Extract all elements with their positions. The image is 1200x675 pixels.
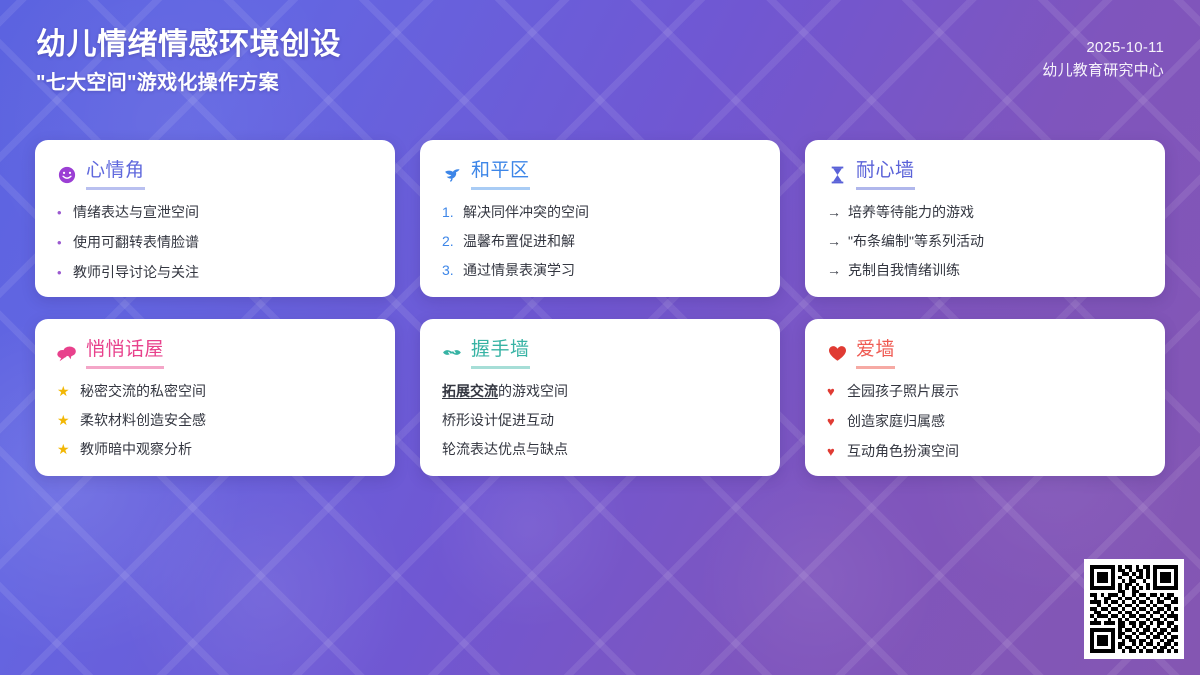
bullet-marker: ★ bbox=[57, 410, 73, 430]
card-mood-corner[interactable]: 心情角 • 情绪表达与宣泄空间 • 使用可翻转表情脸谱 • 教师引导讨论与关注 bbox=[35, 140, 395, 297]
card-header: 悄悄话屋 bbox=[57, 339, 373, 369]
list-item: ★ 教师暗中观察分析 bbox=[57, 439, 373, 459]
list-item-text: 互动角色扮演空间 bbox=[847, 441, 959, 461]
bullet-marker: 3. bbox=[442, 260, 456, 280]
card-body: 拓展交流的游戏空间 桥形设计促进互动 轮流表达优点与缺点 bbox=[442, 381, 758, 460]
list-item-text: 教师引导讨论与关注 bbox=[73, 262, 199, 282]
list-item-text: 情绪表达与宣泄空间 bbox=[73, 202, 199, 222]
qr-code[interactable] bbox=[1084, 559, 1184, 659]
list-item: 轮流表达优点与缺点 bbox=[442, 439, 758, 459]
card-title: 心情角 bbox=[86, 160, 145, 190]
list-item-text: 使用可翻转表情脸谱 bbox=[73, 232, 199, 252]
card-title: 耐心墙 bbox=[856, 160, 915, 190]
card-title: 悄悄话屋 bbox=[86, 339, 164, 369]
list-item: • 使用可翻转表情脸谱 bbox=[57, 232, 373, 253]
card-header: 心情角 bbox=[57, 160, 373, 190]
card-handshake-wall[interactable]: 握手墙 拓展交流的游戏空间 桥形设计促进互动 轮流表达优点与缺点 bbox=[420, 319, 780, 476]
speech-bubbles-icon bbox=[57, 344, 77, 364]
list-item: • 情绪表达与宣泄空间 bbox=[57, 202, 373, 223]
card-body: • 情绪表达与宣泄空间 • 使用可翻转表情脸谱 • 教师引导讨论与关注 bbox=[57, 202, 373, 283]
list-item-text: "布条编制"等系列活动 bbox=[848, 231, 984, 251]
card-peace-zone[interactable]: 和平区 1. 解决同伴冲突的空间 2. 温馨布置促进和解 3. 通过情景表演学习 bbox=[420, 140, 780, 297]
emphasis-text: 拓展交流 bbox=[442, 383, 498, 399]
bullet-marker: ★ bbox=[57, 439, 73, 459]
card-header: 握手墙 bbox=[442, 339, 758, 369]
bullet-marker: ★ bbox=[57, 381, 73, 401]
list-item: → "布条编制"等系列活动 bbox=[827, 231, 1143, 251]
bullet-marker: • bbox=[57, 264, 66, 283]
slide-canvas: 幼儿情绪情感环境创设 "七大空间"游戏化操作方案 2025-10-11 幼儿教育… bbox=[0, 0, 1200, 675]
bullet-marker: ♥ bbox=[827, 413, 840, 432]
bullet-marker: → bbox=[827, 260, 841, 280]
card-body: ★ 秘密交流的私密空间 ★ 柔软材料创造安全感 ★ 教师暗中观察分析 bbox=[57, 381, 373, 460]
list-item: → 克制自我情绪训练 bbox=[827, 260, 1143, 280]
list-item-text: 培养等待能力的游戏 bbox=[848, 202, 974, 222]
list-item-text: 秘密交流的私密空间 bbox=[80, 381, 206, 401]
card-title: 和平区 bbox=[471, 160, 530, 190]
smiley-face-icon bbox=[57, 165, 77, 185]
bullet-marker: • bbox=[57, 204, 66, 223]
list-item: ♥ 创造家庭归属感 bbox=[827, 411, 1143, 432]
qr-code-matrix bbox=[1090, 565, 1178, 653]
card-body: ♥ 全园孩子照片展示 ♥ 创造家庭归属感 ♥ 互动角色扮演空间 bbox=[827, 381, 1143, 462]
list-item: • 教师引导讨论与关注 bbox=[57, 262, 373, 283]
card-header: 耐心墙 bbox=[827, 160, 1143, 190]
bullet-marker: ♥ bbox=[827, 443, 840, 462]
list-item-text: 轮流表达优点与缺点 bbox=[442, 439, 568, 459]
bullet-marker: 1. bbox=[442, 202, 456, 222]
list-item-text: 柔软材料创造安全感 bbox=[80, 410, 206, 430]
list-item: 桥形设计促进互动 bbox=[442, 410, 758, 430]
list-item: 1. 解决同伴冲突的空间 bbox=[442, 202, 758, 222]
list-item-text: 全园孩子照片展示 bbox=[847, 381, 959, 401]
card-love-wall[interactable]: 爱墙 ♥ 全园孩子照片展示 ♥ 创造家庭归属感 ♥ 互动角色扮演空间 bbox=[805, 319, 1165, 476]
list-item-text: 创造家庭归属感 bbox=[847, 411, 945, 431]
list-item-text: 通过情景表演学习 bbox=[463, 260, 575, 280]
slide-header: 幼儿情绪情感环境创设 "七大空间"游戏化操作方案 2025-10-11 幼儿教育… bbox=[0, 0, 1200, 120]
card-patience-wall[interactable]: 耐心墙 → 培养等待能力的游戏 → "布条编制"等系列活动 → 克制自我情绪训练 bbox=[805, 140, 1165, 297]
list-item-rest: 的游戏空间 bbox=[498, 383, 568, 399]
list-item-text: 教师暗中观察分析 bbox=[80, 439, 192, 459]
list-item: ♥ 互动角色扮演空间 bbox=[827, 441, 1143, 462]
card-header: 和平区 bbox=[442, 160, 758, 190]
card-header: 爱墙 bbox=[827, 339, 1143, 369]
list-item: 2. 温馨布置促进和解 bbox=[442, 231, 758, 251]
list-item-text: 温馨布置促进和解 bbox=[463, 231, 575, 251]
card-body: 1. 解决同伴冲突的空间 2. 温馨布置促进和解 3. 通过情景表演学习 bbox=[442, 202, 758, 281]
heart-icon bbox=[827, 344, 847, 364]
organization-label: 幼儿教育研究中心 bbox=[1042, 59, 1164, 83]
list-item: 拓展交流的游戏空间 bbox=[442, 381, 758, 401]
dove-icon bbox=[442, 165, 462, 185]
bullet-marker: • bbox=[57, 234, 66, 253]
card-whisper-house[interactable]: 悄悄话屋 ★ 秘密交流的私密空间 ★ 柔软材料创造安全感 ★ 教师暗中观察分析 bbox=[35, 319, 395, 476]
card-title: 握手墙 bbox=[471, 339, 530, 369]
header-left: 幼儿情绪情感环境创设 "七大空间"游戏化操作方案 bbox=[36, 26, 341, 98]
page-subtitle: "七大空间"游戏化操作方案 bbox=[36, 68, 341, 98]
bullet-marker: ♥ bbox=[827, 383, 840, 402]
list-item: ★ 柔软材料创造安全感 bbox=[57, 410, 373, 430]
list-item: ♥ 全园孩子照片展示 bbox=[827, 381, 1143, 402]
list-item-text: 桥形设计促进互动 bbox=[442, 410, 554, 430]
list-item: → 培养等待能力的游戏 bbox=[827, 202, 1143, 222]
card-grid: 心情角 • 情绪表达与宣泄空间 • 使用可翻转表情脸谱 • 教师引导讨论与关注 bbox=[35, 140, 1165, 476]
list-item: 3. 通过情景表演学习 bbox=[442, 260, 758, 280]
card-title: 爱墙 bbox=[856, 339, 895, 369]
bullet-marker: → bbox=[827, 231, 841, 251]
date-label: 2025-10-11 bbox=[1086, 36, 1164, 59]
handshake-icon bbox=[442, 344, 462, 364]
list-item: ★ 秘密交流的私密空间 bbox=[57, 381, 373, 401]
header-meta: 2025-10-11 幼儿教育研究中心 bbox=[1042, 26, 1164, 83]
bullet-marker: → bbox=[827, 202, 841, 222]
list-item-text: 解决同伴冲突的空间 bbox=[463, 202, 589, 222]
list-item-text: 拓展交流的游戏空间 bbox=[442, 381, 568, 401]
bullet-marker: 2. bbox=[442, 231, 456, 251]
list-item-text: 克制自我情绪训练 bbox=[848, 260, 960, 280]
page-title: 幼儿情绪情感环境创设 bbox=[36, 26, 341, 64]
card-body: → 培养等待能力的游戏 → "布条编制"等系列活动 → 克制自我情绪训练 bbox=[827, 202, 1143, 281]
hourglass-icon bbox=[827, 165, 847, 185]
